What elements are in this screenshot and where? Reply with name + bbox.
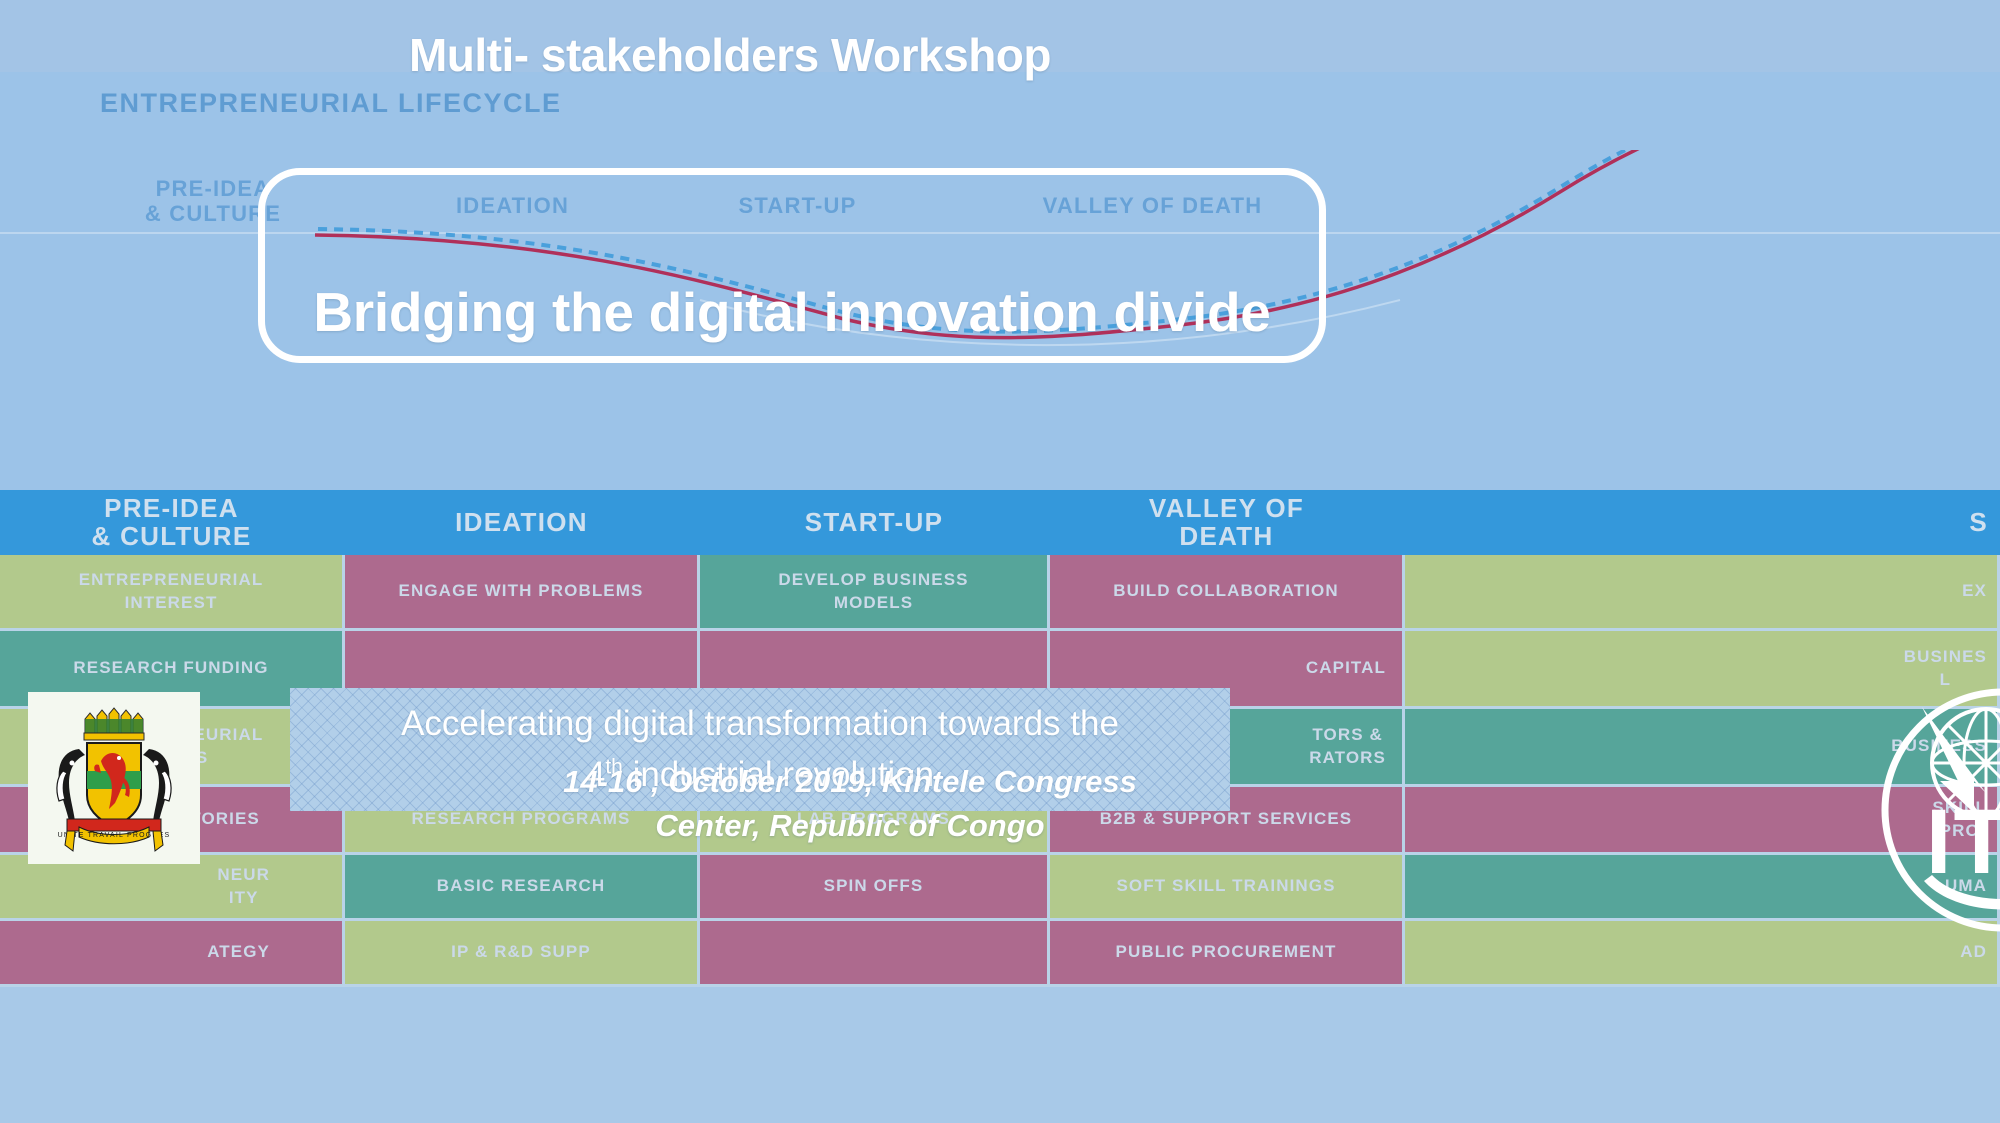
page-title: Bridging the digital innovation divide <box>313 280 1270 344</box>
congo-coat-of-arms-logo: UNITE TRAVAIL PROGRES <box>28 692 200 864</box>
matrix-header-start-up: START-UP <box>700 490 1050 555</box>
matrix-cell: UMA <box>1405 855 2000 921</box>
matrix-header-scale-up: S <box>1405 490 2000 555</box>
matrix-cell: BASIC RESEARCH <box>345 855 700 921</box>
matrix-header-ideation: IDEATION <box>345 490 700 555</box>
lifecycle-label: ENTREPRENEURIAL LIFECYCLE <box>100 88 562 119</box>
slide-canvas: ENTREPRENEURIAL LIFECYCLE PRE-IDEA & CUL… <box>0 0 2000 1123</box>
matrix-cell: SOFT SKILL TRAININGS <box>1050 855 1405 921</box>
matrix-cell: BUILD COLLABORATION <box>1050 555 1405 631</box>
matrix-cell: IP & R&D SUPP <box>345 921 700 987</box>
slide-title: Multi- stakeholders Workshop <box>0 28 1460 82</box>
matrix-cell: BUSINESL <box>1405 631 2000 709</box>
matrix-cell: EX <box>1405 555 2000 631</box>
coat-of-arms-icon: UNITE TRAVAIL PROGRES <box>39 703 189 853</box>
matrix-cell: ENTREPRENEURIALINTEREST <box>0 555 345 631</box>
matrix-header-row: PRE-IDEA& CULTURE IDEATION START-UP VALL… <box>0 490 2000 555</box>
subtitle-line-1: Accelerating digital transformation towa… <box>401 699 1119 750</box>
matrix-cell: NEURITY <box>0 855 345 921</box>
table-row: ENTREPRENEURIALINTEREST ENGAGE WITH PROB… <box>0 555 2000 631</box>
matrix-cell: SPIN OFFS <box>700 855 1050 921</box>
heading-callout-box: Bridging the digital innovation divide <box>258 168 1326 363</box>
event-date-venue: 14-16 , October 2019, Kintele Congress C… <box>540 760 1160 848</box>
table-row: ATEGY IP & R&D SUPP PUBLIC PROCUREMENT A… <box>0 921 2000 987</box>
matrix-header-pre-idea: PRE-IDEA& CULTURE <box>0 490 345 555</box>
venue-line-2: Center, Republic of Congo <box>540 804 1160 848</box>
matrix-cell: ENGAGE WITH PROBLEMS <box>345 555 700 631</box>
matrix-cell: BUSINESS <box>1405 709 2000 787</box>
venue-line-1: 14-16 , October 2019, Kintele Congress <box>540 760 1160 804</box>
matrix-cell: SKILLPRO <box>1405 787 2000 855</box>
matrix-cell <box>700 921 1050 987</box>
matrix-cell: PUBLIC PROCUREMENT <box>1050 921 1405 987</box>
matrix-cell: AD <box>1405 921 2000 987</box>
matrix-header-valley-of-death: VALLEY OFDEATH <box>1050 490 1405 555</box>
matrix-cell: DEVELOP BUSINESSMODELS <box>700 555 1050 631</box>
matrix-cell: ATEGY <box>0 921 345 987</box>
background-band-bottom <box>0 1040 2000 1123</box>
table-row: NEURITY BASIC RESEARCH SPIN OFFS SOFT SK… <box>0 855 2000 921</box>
